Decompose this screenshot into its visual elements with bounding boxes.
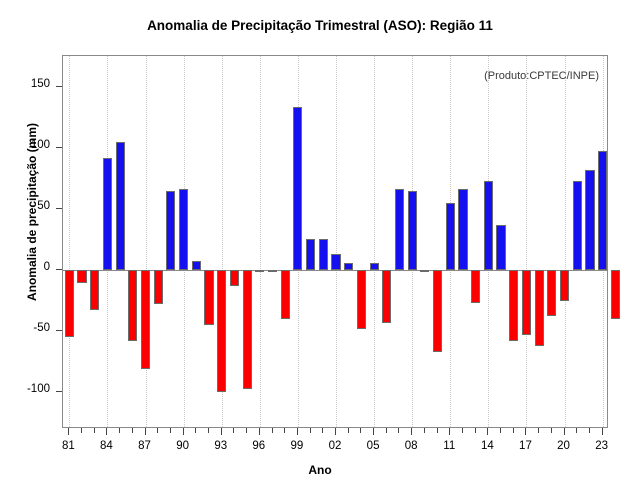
x-tick-label: 02 bbox=[320, 440, 350, 452]
x-tick-label: 14 bbox=[472, 440, 502, 452]
bar-1989 bbox=[166, 191, 175, 270]
x-tick-label: 11 bbox=[434, 440, 464, 452]
bar-2002 bbox=[331, 254, 340, 270]
bar-2010 bbox=[433, 270, 442, 352]
x-tick-mark bbox=[284, 428, 285, 433]
bar-1994 bbox=[230, 270, 239, 286]
bar-2007 bbox=[395, 189, 404, 270]
y-tick-mark bbox=[56, 330, 62, 331]
x-tick-mark bbox=[386, 428, 387, 433]
y-tick-mark bbox=[56, 269, 62, 270]
x-tick-mark bbox=[233, 428, 234, 433]
bar-2019 bbox=[547, 270, 556, 316]
x-tick-label: 08 bbox=[396, 440, 426, 452]
y-tick-mark bbox=[56, 208, 62, 209]
bar-1993 bbox=[217, 270, 226, 392]
bar-1982 bbox=[77, 270, 86, 283]
x-tick-label: 93 bbox=[206, 440, 236, 452]
y-tick-label: -50 bbox=[6, 322, 50, 334]
x-tick-mark bbox=[335, 428, 336, 435]
x-tick-mark bbox=[449, 428, 450, 435]
bar-2004 bbox=[357, 270, 366, 329]
x-tick-mark bbox=[119, 428, 120, 433]
x-tick-mark bbox=[462, 428, 463, 433]
y-tick-label: 0 bbox=[6, 261, 50, 273]
x-tick-mark bbox=[500, 428, 501, 433]
x-tick-label: 90 bbox=[168, 440, 198, 452]
chart-title: Anomalia de Precipitação Trimestral (ASO… bbox=[0, 18, 640, 33]
x-tick-mark bbox=[551, 428, 552, 433]
bar-2014 bbox=[484, 181, 493, 270]
bar-2022 bbox=[585, 170, 594, 270]
bar-2023 bbox=[598, 151, 607, 270]
x-tick-label: 05 bbox=[358, 440, 388, 452]
x-tick-mark bbox=[170, 428, 171, 433]
y-tick-label: 100 bbox=[6, 139, 50, 151]
bar-1998 bbox=[281, 270, 290, 319]
x-tick-mark bbox=[106, 428, 107, 435]
y-tick-label: -100 bbox=[6, 383, 50, 395]
bar-2000 bbox=[306, 239, 315, 270]
y-axis-label: Anomalia de precipitação (mm) bbox=[25, 92, 39, 332]
bar-2008 bbox=[408, 191, 417, 270]
bar-1992 bbox=[204, 270, 213, 325]
x-tick-mark bbox=[68, 428, 69, 435]
plot-area: (Produto:CPTEC/INPE) bbox=[62, 55, 608, 428]
source-annotation: (Produto:CPTEC/INPE) bbox=[484, 70, 599, 82]
x-tick-mark bbox=[81, 428, 82, 433]
y-tick-mark bbox=[56, 147, 62, 148]
bar-1981 bbox=[65, 270, 74, 337]
x-tick-mark bbox=[564, 428, 565, 435]
bar-2020 bbox=[560, 270, 569, 301]
x-tick-mark bbox=[513, 428, 514, 433]
bar-1983 bbox=[90, 270, 99, 310]
x-axis-label: Ano bbox=[0, 463, 640, 477]
bar-2013 bbox=[471, 270, 480, 303]
y-tick-label: 50 bbox=[6, 200, 50, 212]
x-tick-mark bbox=[487, 428, 488, 435]
bar-2011 bbox=[446, 203, 455, 270]
x-tick-mark bbox=[132, 428, 133, 433]
bar-1986 bbox=[128, 270, 137, 341]
x-tick-mark bbox=[221, 428, 222, 435]
x-tick-mark bbox=[360, 428, 361, 433]
x-tick-mark bbox=[94, 428, 95, 433]
bar-layer bbox=[63, 56, 607, 427]
bar-1991 bbox=[192, 261, 201, 270]
bar-2003 bbox=[344, 263, 353, 270]
bar-2006 bbox=[382, 270, 391, 323]
x-tick-mark bbox=[297, 428, 298, 435]
x-tick-mark bbox=[373, 428, 374, 435]
bar-1996 bbox=[255, 270, 264, 272]
x-tick-mark bbox=[183, 428, 184, 435]
x-tick-mark bbox=[424, 428, 425, 433]
bar-1988 bbox=[154, 270, 163, 304]
x-tick-label: 87 bbox=[130, 440, 160, 452]
bar-1984 bbox=[103, 158, 112, 271]
bar-2017 bbox=[522, 270, 531, 335]
bar-2001 bbox=[319, 239, 328, 270]
x-tick-label: 81 bbox=[53, 440, 83, 452]
bar-1990 bbox=[179, 189, 188, 270]
x-tick-mark bbox=[576, 428, 577, 433]
x-tick-mark bbox=[195, 428, 196, 433]
bar-1987 bbox=[141, 270, 150, 369]
x-tick-mark bbox=[310, 428, 311, 433]
y-tick-label: 150 bbox=[6, 78, 50, 90]
x-tick-mark bbox=[602, 428, 603, 435]
y-tick-mark bbox=[56, 86, 62, 87]
bar-1995 bbox=[243, 270, 252, 389]
x-tick-mark bbox=[157, 428, 158, 433]
bar-2015 bbox=[496, 225, 505, 270]
y-tick-mark bbox=[56, 391, 62, 392]
x-tick-mark bbox=[145, 428, 146, 435]
x-tick-mark bbox=[322, 428, 323, 433]
x-tick-label: 23 bbox=[587, 440, 617, 452]
x-tick-label: 20 bbox=[549, 440, 579, 452]
x-tick-mark bbox=[437, 428, 438, 433]
x-tick-mark bbox=[589, 428, 590, 433]
x-tick-label: 17 bbox=[510, 440, 540, 452]
bar-2005 bbox=[370, 263, 379, 270]
x-tick-mark bbox=[259, 428, 260, 435]
x-tick-label: 84 bbox=[91, 440, 121, 452]
x-tick-mark bbox=[411, 428, 412, 435]
chart-root: Anomalia de Precipitação Trimestral (ASO… bbox=[0, 0, 640, 500]
x-tick-mark bbox=[475, 428, 476, 433]
x-tick-mark bbox=[272, 428, 273, 433]
x-tick-label: 96 bbox=[244, 440, 274, 452]
bar-1999 bbox=[293, 107, 302, 270]
x-tick-mark bbox=[208, 428, 209, 433]
bar-1985 bbox=[116, 142, 125, 270]
bar-2009 bbox=[420, 270, 429, 272]
x-tick-mark bbox=[398, 428, 399, 433]
x-tick-label: 99 bbox=[282, 440, 312, 452]
bar-2012 bbox=[458, 189, 467, 270]
x-tick-mark bbox=[348, 428, 349, 433]
x-tick-mark bbox=[246, 428, 247, 433]
bar-2021 bbox=[573, 181, 582, 270]
bar-1997 bbox=[268, 270, 277, 272]
bar-2018 bbox=[535, 270, 544, 346]
bar-undefined bbox=[611, 270, 620, 319]
x-tick-mark bbox=[525, 428, 526, 435]
x-tick-mark bbox=[538, 428, 539, 433]
bar-2016 bbox=[509, 270, 518, 341]
